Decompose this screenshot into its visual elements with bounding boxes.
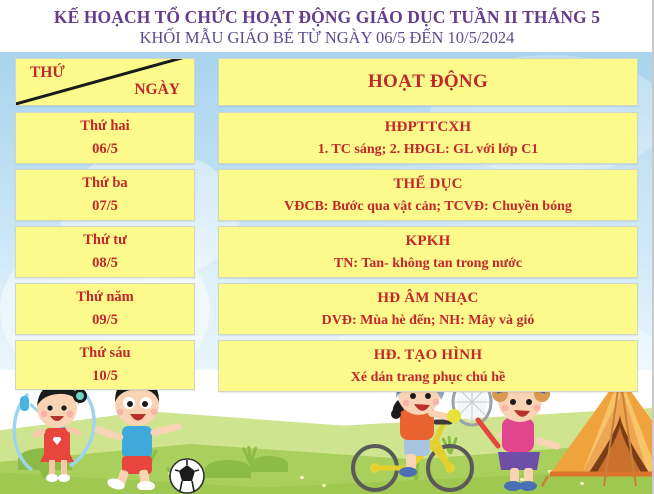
table-row: HĐ. TẠO HÌNH Xé dán trang phục chú hề xyxy=(218,340,638,392)
day-name: Thứ tư xyxy=(83,232,127,250)
page-title: KẾ HOẠCH TỔ CHỨC HOẠT ĐỘNG GIÁO DỤC TUẦN… xyxy=(0,0,654,27)
activity-title: KPKH xyxy=(406,232,451,250)
activity-title: HĐ. TẠO HÌNH xyxy=(374,346,482,364)
activity-detail: DVĐ: Mùa hè đến; NH: Mây và gió xyxy=(322,312,535,329)
table-row: THỂ DỤC VĐCB: Bước qua vật cản; TCVĐ: Ch… xyxy=(218,169,638,221)
slide-canvas: KẾ HOẠCH TỔ CHỨC HOẠT ĐỘNG GIÁO DỤC TUẦN… xyxy=(0,0,654,494)
grass-tuft-icon xyxy=(238,442,262,464)
page-subtitle: KHỐI MẪU GIÁO BÉ TỪ NGÀY 06/5 ĐẾN 10/5/2… xyxy=(0,27,654,47)
activity-title: HĐPTTCXH xyxy=(385,118,472,136)
table-row: Thứ hai 06/5 xyxy=(15,112,195,164)
table-header-activity-cell: HOẠT ĐỘNG xyxy=(218,58,638,106)
schedule-table: THỨ NGÀY HOẠT ĐỘNG Thứ hai 06/5 HĐPTTCXH… xyxy=(0,52,654,389)
activity-title: HĐ ÂM NHẠC xyxy=(377,289,478,307)
day-date: 06/5 xyxy=(92,141,118,159)
activity-detail: TN: Tan- không tan trong nước xyxy=(334,255,522,272)
day-date: 10/5 xyxy=(92,368,118,386)
day-date: 08/5 xyxy=(92,255,118,273)
table-row: HĐPTTCXH 1. TC sáng; 2. HĐGL: GL với lớp… xyxy=(218,112,638,164)
day-date: 07/5 xyxy=(92,198,118,216)
day-name: Thứ ba xyxy=(82,175,127,193)
day-date: 09/5 xyxy=(92,312,118,330)
activity-detail: 1. TC sáng; 2. HĐGL: GL với lớp C1 xyxy=(318,141,539,158)
table-row: Thứ sáu 10/5 xyxy=(15,340,195,390)
day-name: Thứ sáu xyxy=(79,345,130,363)
table-row: Thứ năm 09/5 xyxy=(15,283,195,335)
table-row: Thứ ba 07/5 xyxy=(15,169,195,221)
activity-detail: Xé dán trang phục chú hề xyxy=(351,369,505,386)
day-name: Thứ hai xyxy=(80,118,129,136)
flower xyxy=(300,476,304,479)
table-row: Thứ tư 08/5 xyxy=(15,226,195,278)
header-label-thu: THỨ xyxy=(30,64,65,83)
flower xyxy=(322,484,326,487)
day-name: Thứ năm xyxy=(76,289,133,307)
table-row: HĐ ÂM NHẠC DVĐ: Mùa hè đến; NH: Mây và g… xyxy=(218,283,638,335)
soccer-ball xyxy=(169,458,205,494)
activity-detail: VĐCB: Bước qua vật cản; TCVĐ: Chuyền bón… xyxy=(284,198,572,215)
activity-title: THỂ DỤC xyxy=(393,175,462,193)
table-header-day-cell: THỨ NGÀY xyxy=(15,58,195,106)
header-label-ngay: NGÀY xyxy=(134,81,180,100)
title-block: KẾ HOẠCH TỔ CHỨC HOẠT ĐỘNG GIÁO DỤC TUẦN… xyxy=(0,0,654,52)
table-row: KPKH TN: Tan- không tan trong nước xyxy=(218,226,638,278)
header-label-activity: HOẠT ĐỘNG xyxy=(368,70,488,93)
